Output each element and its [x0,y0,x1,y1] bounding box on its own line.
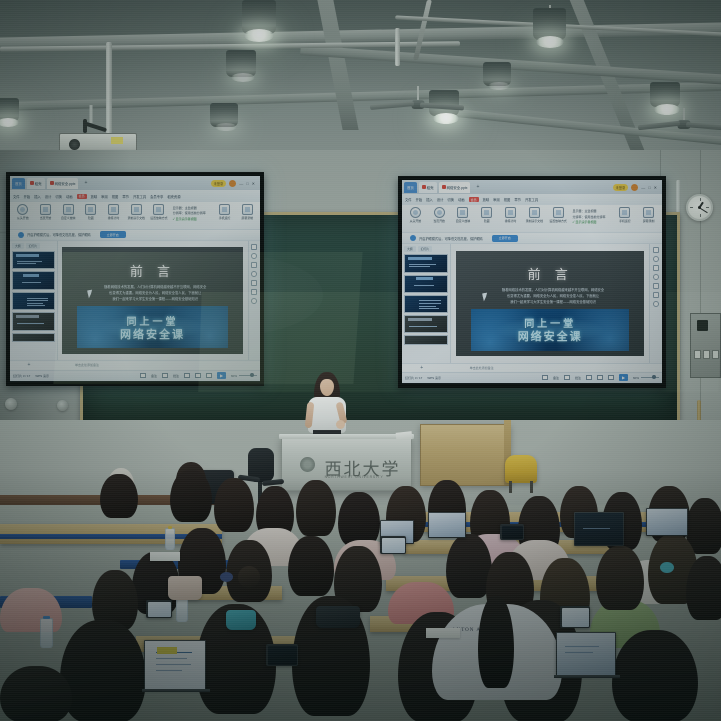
menu-transition[interactable]: 切换 [55,194,62,199]
slide-thumbnail-pane[interactable]: 大纲 幻灯片 [10,241,58,360]
color-icon[interactable] [251,271,257,277]
design-ideas-icon[interactable] [251,244,257,250]
custom-show-icon [63,204,74,215]
minimize-button[interactable]: — [239,181,243,186]
student-hair [0,666,72,721]
settings-icon [553,207,564,218]
slide-title: 前 言 [456,264,644,283]
zoom-level: 60% [231,374,237,378]
text-icon[interactable] [251,280,257,286]
wps-workspace: 大纲 幻灯片 [10,241,260,360]
menu-devtools[interactable]: 开发工具 [133,194,146,199]
thumbnail-slide-4[interactable] [12,312,55,330]
presenter-hand [336,420,345,429]
left-projection-screen[interactable]: 首页 稻壳 网络安全.pptx + 未登录 — □ ✕ [6,172,264,386]
design-ideas-icon[interactable] [653,247,659,253]
layout-icon[interactable] [653,256,659,262]
thumbnail-slide-1[interactable] [404,254,448,272]
yellow-chair [505,455,537,483]
slide-counter: 幻灯片 3 / 17 [13,374,30,378]
status-bar[interactable]: 幻灯片 3 / 17 WPS 演示 备注 批注 ▶ 60% [402,372,662,383]
slide-sorter-button[interactable] [195,373,201,378]
menu-file[interactable]: 文件 [405,197,412,202]
ribbon-hide[interactable]: 隐藏 [82,204,100,220]
tab-home[interactable]: 首页 [12,178,25,189]
tab-docer-label: 稻壳 [427,185,434,190]
wps-workspace: 大纲 幻灯片 [402,244,662,362]
login-pill[interactable]: 未登录 [211,180,227,187]
slide-canvas[interactable]: 前 言 随着网络技术的发展，人们对计算机网络越来越不开互联网，网络安全 也变得尤… [451,244,649,362]
outline-tab[interactable]: 大纲 [12,243,24,249]
ribbon-from-start[interactable]: 从头开始 [14,204,32,220]
student-hair [596,546,644,610]
tab-home[interactable]: 首页 [404,182,417,193]
menu-view[interactable]: 视图 [504,197,511,202]
notes-label[interactable]: 备注 [553,376,559,380]
thumbnail-slide-4[interactable] [404,315,448,333]
menu-insert[interactable]: 插入 [426,197,433,202]
pouch [316,606,360,628]
pendant-light [236,0,282,50]
app-name: WPS 演示 [35,374,49,378]
chart-icon[interactable] [653,292,659,298]
handbag [168,576,202,600]
docer-icon [422,185,426,189]
laptop[interactable] [556,632,616,676]
pendant-light [528,5,572,57]
shape-icon[interactable] [251,262,257,268]
notes-placeholder: 单击此处添加备注 [75,363,99,367]
menu-animation[interactable]: 动画 [66,194,73,199]
record-icon [529,207,540,218]
wall-clock [686,194,713,221]
pptx-icon [442,185,446,189]
menu-docer-res[interactable]: 稻壳资源 [167,194,180,199]
student-hair [338,492,380,546]
ribbon-from-current[interactable]: 当页开始 [37,204,55,220]
pptx-icon [50,181,54,185]
student-hair [214,478,254,532]
ribbon-hide[interactable]: 隐藏 [477,207,496,223]
avatar[interactable] [229,180,236,187]
tablet[interactable] [500,524,524,540]
screen-record-icon [242,204,253,215]
pouch [226,610,256,630]
right-tool-rail[interactable] [649,244,662,362]
wps-menu-bar[interactable]: 文件 开始 插入 设计 切换 动画 会员 放映 审阅 视图 章节 开发工具 会员… [10,190,260,201]
menu-insert[interactable]: 插入 [34,194,41,199]
student-ponytail [478,596,514,688]
phone-icon [219,204,230,215]
member-chip[interactable]: 会员 [469,197,479,202]
speaker-notes-bar[interactable]: + 单击此处添加备注 [10,360,260,369]
slide-banner-image: 同上一堂 网络安全课 [77,306,229,348]
record-icon [131,204,142,215]
ribbon-from-start[interactable]: 从头开始 [406,207,425,223]
comments-label[interactable]: 批注 [575,376,581,380]
reading-view-button[interactable] [608,375,614,380]
play-slideshow-button[interactable]: ▶ [217,372,226,379]
custom-show-icon [457,207,468,218]
ceiling-fan [638,108,721,142]
thumbnail-slide-2[interactable] [404,275,448,293]
tablet[interactable] [560,606,590,628]
current-slide[interactable]: 前 言 随着网络技术的发展，人们对计算机网络越来越不开互联网，网络安全 也变得尤… [62,247,242,353]
slides-tab[interactable]: 幻灯片 [418,246,432,252]
thumbnail-slide-5[interactable] [12,333,55,342]
menu-section[interactable]: 章节 [122,194,129,199]
app-name: WPS 演示 [427,376,441,380]
menu-slideshow[interactable]: 放映 [483,197,490,202]
ribbon-setup-show[interactable]: 设置放映方式 [549,207,568,223]
ribbon-display-options[interactable]: 显示器：主监视器 分辨率：使用当前分辨率 ✓ 显示演示者视图 [572,207,605,224]
avatar[interactable] [631,184,638,191]
ribbon-setup-show[interactable]: 设置放映方式 [150,204,168,220]
notes-placeholder: 单击此处添加备注 [470,366,494,370]
wps-menu-bar[interactable]: 文件 开始 插入 设计 切换 动画 会员 放映 审阅 视图 章节 开发工具 [402,194,662,205]
menu-slideshow[interactable]: 放映 [91,194,98,199]
zoom-control[interactable]: 60% [633,376,659,380]
new-tab-button[interactable]: + [80,180,91,186]
eye-protection-notice: 开启护眼模式后，可降低文档亮度，保护眼睛 立即开启 [402,232,662,244]
podium-name-en: NORTHWEST UNIVERSITY [325,475,384,479]
menu-section[interactable]: 章节 [514,197,521,202]
speaker-notes-bar[interactable]: + 单击此处添加备注 [402,363,662,372]
water-bottle [40,618,53,648]
comments-toggle[interactable] [564,375,570,380]
menu-review[interactable]: 审阅 [493,197,500,202]
chart-icon[interactable] [251,289,257,295]
slides-tab[interactable]: 幻灯片 [26,243,40,249]
color-icon[interactable] [653,274,659,280]
hide-icon [481,207,492,218]
wps-ribbon[interactable]: 从头开始 当页开始 自定义放映 隐藏 排练计时 [10,202,260,229]
timer-icon [505,207,516,218]
more-icon[interactable] [251,298,257,304]
tab-active-document[interactable]: 网络安全.pptx [439,182,471,193]
thumbnail-slide-3[interactable] [12,292,55,310]
normal-view-button[interactable] [184,373,190,378]
login-pill[interactable]: 未登录 [613,184,629,191]
pendant-light [0,98,28,134]
menu-start[interactable]: 开始 [24,194,31,199]
wooden-cabinet [420,424,511,486]
mouse-cursor [482,292,489,301]
menu-start[interactable]: 开始 [416,197,423,202]
tab-active-label: 网络安全.pptx [55,181,76,186]
tablet[interactable] [266,644,298,666]
close-button[interactable]: ✕ [654,185,657,190]
water-bottle [165,528,175,550]
zoom-control[interactable]: 60% [231,374,257,378]
ribbon-rehearse[interactable]: 排练计时 [105,204,123,220]
student-hair [288,536,334,596]
notes-toggle[interactable] [140,373,146,378]
pendant-light [206,103,246,137]
menu-design[interactable]: 设计 [437,197,444,202]
close-button[interactable]: ✕ [252,181,255,186]
lecture-hall-photo: 首页 稻壳 网络安全.pptx + 未登录 — □ ✕ [0,0,721,721]
play-icon [410,207,421,218]
tablet[interactable] [380,536,406,554]
ribbon-record[interactable]: 录制演示文档 [127,204,145,220]
mouse-cursor [87,290,94,299]
ribbon-from-current[interactable]: 当页开始 [430,207,449,223]
notes-label[interactable]: 备注 [151,374,157,378]
menu-file[interactable]: 文件 [13,194,20,199]
tab-docer[interactable]: 稻壳 [419,182,437,193]
shape-icon[interactable] [653,265,659,271]
wps-ribbon[interactable]: 从头开始 当页开始 自定义放映 隐藏 排练计时 [402,205,662,232]
maximize-button[interactable]: □ [648,185,650,190]
slide-body: 随着网络技术的发展，人们对计算机网络越来越不开互联网，网络安全 也变得尤为重要。… [477,287,629,306]
menu-design[interactable]: 设计 [45,194,52,199]
student-hair [170,470,212,522]
windows-taskbar[interactable]: 中 19:27 2023/6/20 [10,381,260,382]
ribbon-screen-record[interactable]: 屏幕录制 [639,207,658,223]
ribbon-rehearse[interactable]: 排练计时 [501,207,520,223]
ceiling-fan [370,86,466,120]
notice-text: 开启护眼模式后，可降低文档亮度，保护眼睛 [27,232,91,237]
menu-member[interactable]: 会员专享 [150,194,163,199]
play-icon [17,204,28,215]
eye-protection-notice: 开启护眼模式后，可降低文档亮度，保护眼睛 立即开启 [10,229,260,241]
slide-banner-image: 同上一堂 网络安全课 [471,309,629,351]
member-chip[interactable]: 会员 [77,194,87,199]
zoom-level: 60% [633,376,639,380]
maximize-button[interactable]: □ [246,181,248,186]
tab-home-label: 首页 [15,181,22,186]
menu-animation[interactable]: 动画 [458,197,465,202]
student-hair [60,620,146,721]
pendant-light [478,62,520,98]
minimize-button[interactable]: — [641,185,645,190]
layout-icon[interactable] [251,253,257,259]
new-tab-button[interactable]: + [472,184,483,190]
current-slide[interactable]: 前 言 随着网络技术的发展，人们对计算机网络越来越不开互联网，网络安全 也变得尤… [456,251,644,356]
student-hair [612,630,698,721]
comments-toggle[interactable] [162,373,168,378]
menu-view[interactable]: 视图 [112,194,119,199]
reading-view-button[interactable] [206,373,212,378]
right-tool-rail[interactable] [248,241,261,360]
student-hair-tie [220,572,233,582]
student-hair [100,474,138,518]
status-bar[interactable]: 幻灯片 3 / 17 WPS 演示 备注 批注 ▶ 60% [10,370,260,381]
ribbon-custom-show[interactable]: 自定义放映 [59,204,77,220]
university-seal-icon [300,457,315,472]
banner-line-2: 网络安全课 [77,326,229,342]
breaker-switch [703,350,710,359]
laptop[interactable] [144,640,206,690]
student-hair-tie [660,562,674,573]
tab-active-label: 网络安全.pptx [447,185,468,190]
menu-devtools[interactable]: 开发工具 [525,197,538,202]
thumbnail-slide-1[interactable] [12,251,55,269]
wps-tab-bar[interactable]: 首页 稻壳 网络安全.pptx + 未登录 — □ ✕ [10,176,260,190]
tab-docer-label: 稻壳 [35,181,42,186]
pendant-light [221,50,265,88]
laptop[interactable] [646,508,688,536]
comments-label[interactable]: 批注 [173,374,179,378]
text-icon[interactable] [653,283,659,289]
breaker-switch [712,350,719,359]
student-hair [296,480,336,536]
outline-tab[interactable]: 大纲 [404,246,416,252]
ribbon-phone-remote[interactable]: 手机遥控 [216,204,234,220]
tab-docer[interactable]: 稻壳 [27,178,45,189]
thumbnail-slide-3[interactable] [404,295,448,313]
add-slide-button[interactable]: + [28,362,31,368]
electrical-panel [690,313,721,378]
normal-view-button[interactable] [586,375,592,380]
student-hair [686,556,721,620]
zoom-slider[interactable] [239,375,257,376]
laptop[interactable] [428,512,466,538]
banner-line-2: 网络安全课 [471,328,629,344]
wall-speaker [57,400,68,411]
thumbnail-slide-2[interactable] [12,271,55,289]
ribbon-record[interactable]: 录制演示文档 [525,207,544,223]
tab-active-document[interactable]: 网络安全.pptx [47,178,79,189]
lectern: 西北大学 NORTHWEST UNIVERSITY [281,437,412,491]
play-circle-icon [434,207,445,218]
ribbon-phone-remote[interactable]: 手机遥控 [615,207,634,223]
papers-on-lectern [396,431,413,441]
wps-tab-bar[interactable]: 首页 稻壳 网络安全.pptx + 未登录 — □ ✕ [402,180,662,194]
right-projection-screen[interactable]: 首页 稻壳 网络安全.pptx + 未登录 — □ ✕ [398,176,666,388]
slide-sorter-button[interactable] [597,375,603,380]
menu-review[interactable]: 审阅 [101,194,108,199]
ribbon-screen-record[interactable]: 屏幕录制 [238,204,256,220]
docer-icon [30,181,34,185]
menu-transition[interactable]: 切换 [447,197,454,202]
student-hair-bun [238,566,260,588]
tablet[interactable] [146,600,172,618]
timer-icon [108,204,119,215]
notebook [150,552,180,561]
notice-text: 开启护眼模式后，可降低文档亮度，保护眼睛 [419,236,483,241]
windows-taskbar[interactable]: 中 19:27 2023/6/20 [402,383,662,384]
slide-thumbnail-pane[interactable]: 大纲 幻灯片 [402,244,451,362]
wall-speaker [5,398,17,410]
play-circle-icon [40,204,51,215]
info-icon [18,232,24,238]
slide-body: 随着网络技术的发展，人们对计算机网络越来越不开互联网，网络安全 也变得尤为重要。… [82,284,228,303]
add-slide-button[interactable]: + [420,365,423,371]
slide-title: 前 言 [62,261,242,280]
slide-counter: 幻灯片 3 / 17 [405,376,422,380]
laptop[interactable] [574,512,624,546]
breaker-switch [694,350,701,359]
more-icon[interactable] [653,301,659,307]
thumbnail-slide-5[interactable] [404,335,448,344]
screen-record-icon [643,207,654,218]
zoom-slider[interactable] [641,377,659,378]
enable-now-button[interactable]: 立即开启 [100,231,126,238]
ribbon-custom-show[interactable]: 自定义放映 [454,207,473,223]
info-icon [410,235,416,241]
notes-toggle[interactable] [542,375,548,380]
slide-canvas[interactable]: 前 言 随着网络技术的发展，人们对计算机网络越来越不开互联网，网络安全 也变得尤… [58,241,248,360]
hide-icon [85,204,96,215]
settings-icon [153,204,164,215]
tab-home-label: 首页 [407,185,414,190]
enable-now-button[interactable]: 立即开启 [492,235,518,242]
phone-icon [619,207,630,218]
notebook [426,628,460,638]
ribbon-display-options[interactable]: 显示器：主监视器 分辨率：使用当前分辨率 ✓ 显示演示者视图 [173,204,206,221]
play-slideshow-button[interactable]: ▶ [619,374,628,381]
